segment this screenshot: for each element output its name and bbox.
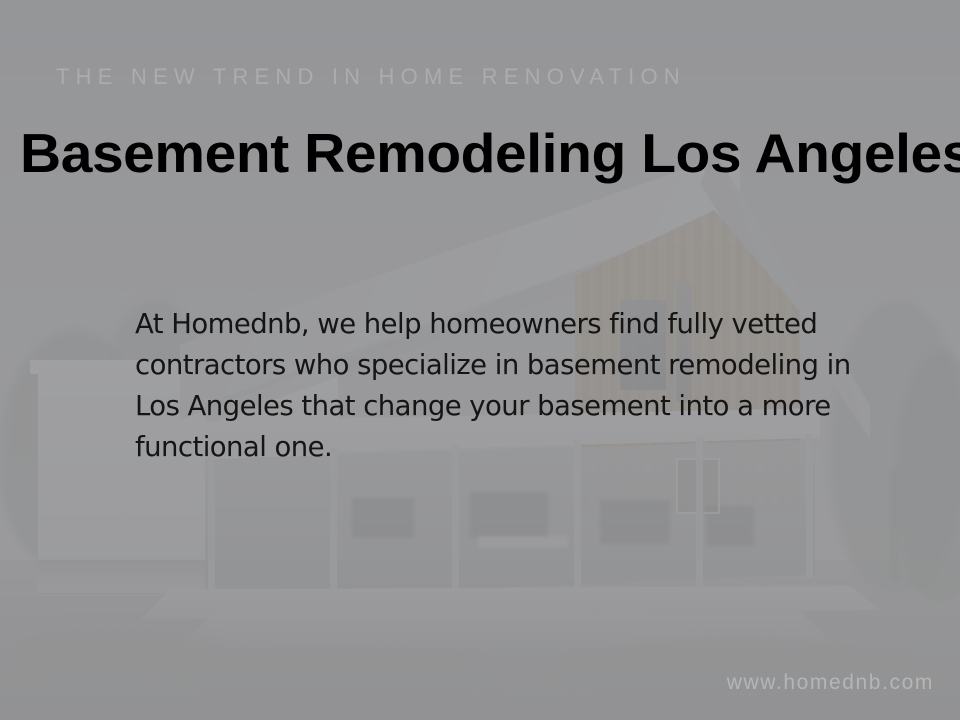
slide-title: Basement Remodeling Los Angeles xyxy=(20,122,960,184)
slide-body-paragraph: At Homednb, we help homeowners find full… xyxy=(135,304,853,468)
slide-content-layer: THE NEW TREND IN HOME RENOVATION Basemen… xyxy=(0,0,960,720)
website-watermark: www.homednb.com xyxy=(727,671,934,695)
presentation-slide: THE NEW TREND IN HOME RENOVATION Basemen… xyxy=(0,0,960,720)
slide-kicker-text: THE NEW TREND IN HOME RENOVATION xyxy=(56,64,686,90)
